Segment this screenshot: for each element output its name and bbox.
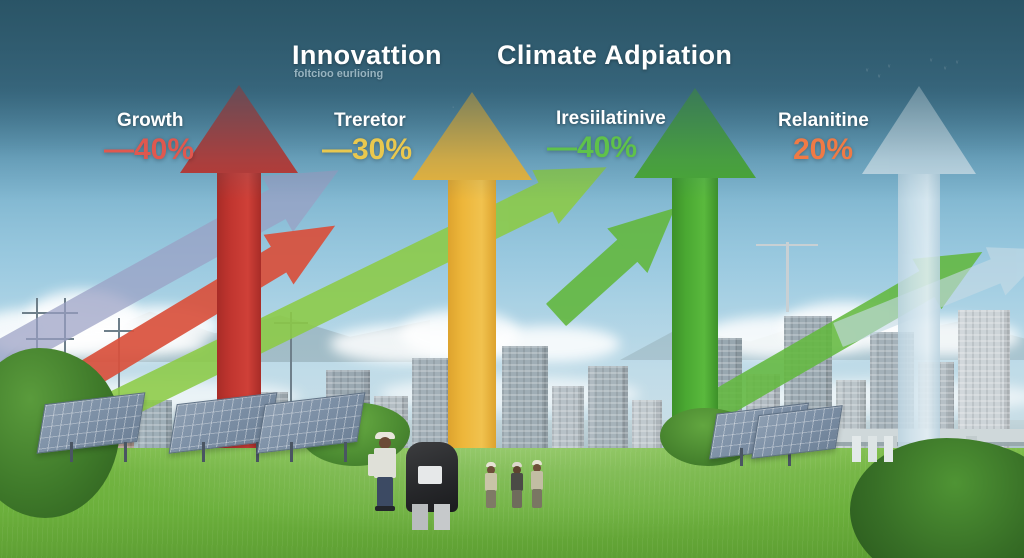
construction-crane [786, 242, 789, 312]
worker-legs [377, 477, 393, 507]
metric-treretor-value: —30% [322, 133, 412, 167]
metric-relanitine-value: 20% [793, 133, 853, 167]
infographic-canvas: ᵛ ᵛ ᵛ ᵛ ᵛ ᵛ · [0, 0, 1024, 558]
field-worker [508, 462, 526, 510]
worker-shoes [375, 506, 395, 511]
field-marker-post [852, 436, 861, 462]
worker-torso [485, 473, 497, 491]
solar-panel-leg [124, 442, 127, 462]
solar-panel-array [42, 398, 138, 446]
solar-panel-array [262, 398, 358, 446]
equipment-legs [412, 504, 428, 530]
worker-legs [486, 490, 496, 508]
crane-jib [756, 244, 818, 246]
metric-iresiilatinive-label: Iresiilatinive [556, 108, 666, 130]
worker-torso [374, 448, 396, 478]
metric-treretor-label: Treretor [334, 110, 406, 132]
field-marker-post [868, 436, 877, 462]
field-worker [528, 460, 546, 510]
worker-legs [512, 490, 522, 508]
heading-climate-adpiation: Climate Adpiation [497, 40, 732, 71]
worker-torso [511, 473, 523, 491]
solar-panel-leg [202, 442, 205, 462]
metric-growth-value: —40% [104, 133, 194, 167]
heading-innovation: Innovattion [292, 40, 442, 71]
equipment-panel [418, 466, 442, 484]
worker-arm [368, 454, 377, 476]
solar-panel-array [174, 398, 270, 446]
metric-relanitine-label: Relanitine [778, 110, 869, 132]
solar-panel-leg [70, 442, 73, 462]
field-worker [482, 462, 500, 510]
equipment-legs [434, 504, 450, 530]
metric-growth-label: Growth [117, 110, 184, 132]
worker-legs [532, 489, 542, 508]
solar-panel-leg [290, 442, 293, 462]
worker-torso [531, 471, 543, 490]
solar-panel-array [756, 410, 836, 452]
solar-panel-leg [344, 442, 347, 462]
field-marker-post [884, 436, 893, 462]
top-gradient-overlay [0, 0, 1024, 200]
heading-innovation-subtitle: foltcioo eurlioing [294, 68, 383, 80]
field-worker-engineer [368, 432, 402, 514]
solar-panel-leg [740, 448, 743, 466]
metric-iresiilatinive-value: —40% [547, 131, 637, 165]
